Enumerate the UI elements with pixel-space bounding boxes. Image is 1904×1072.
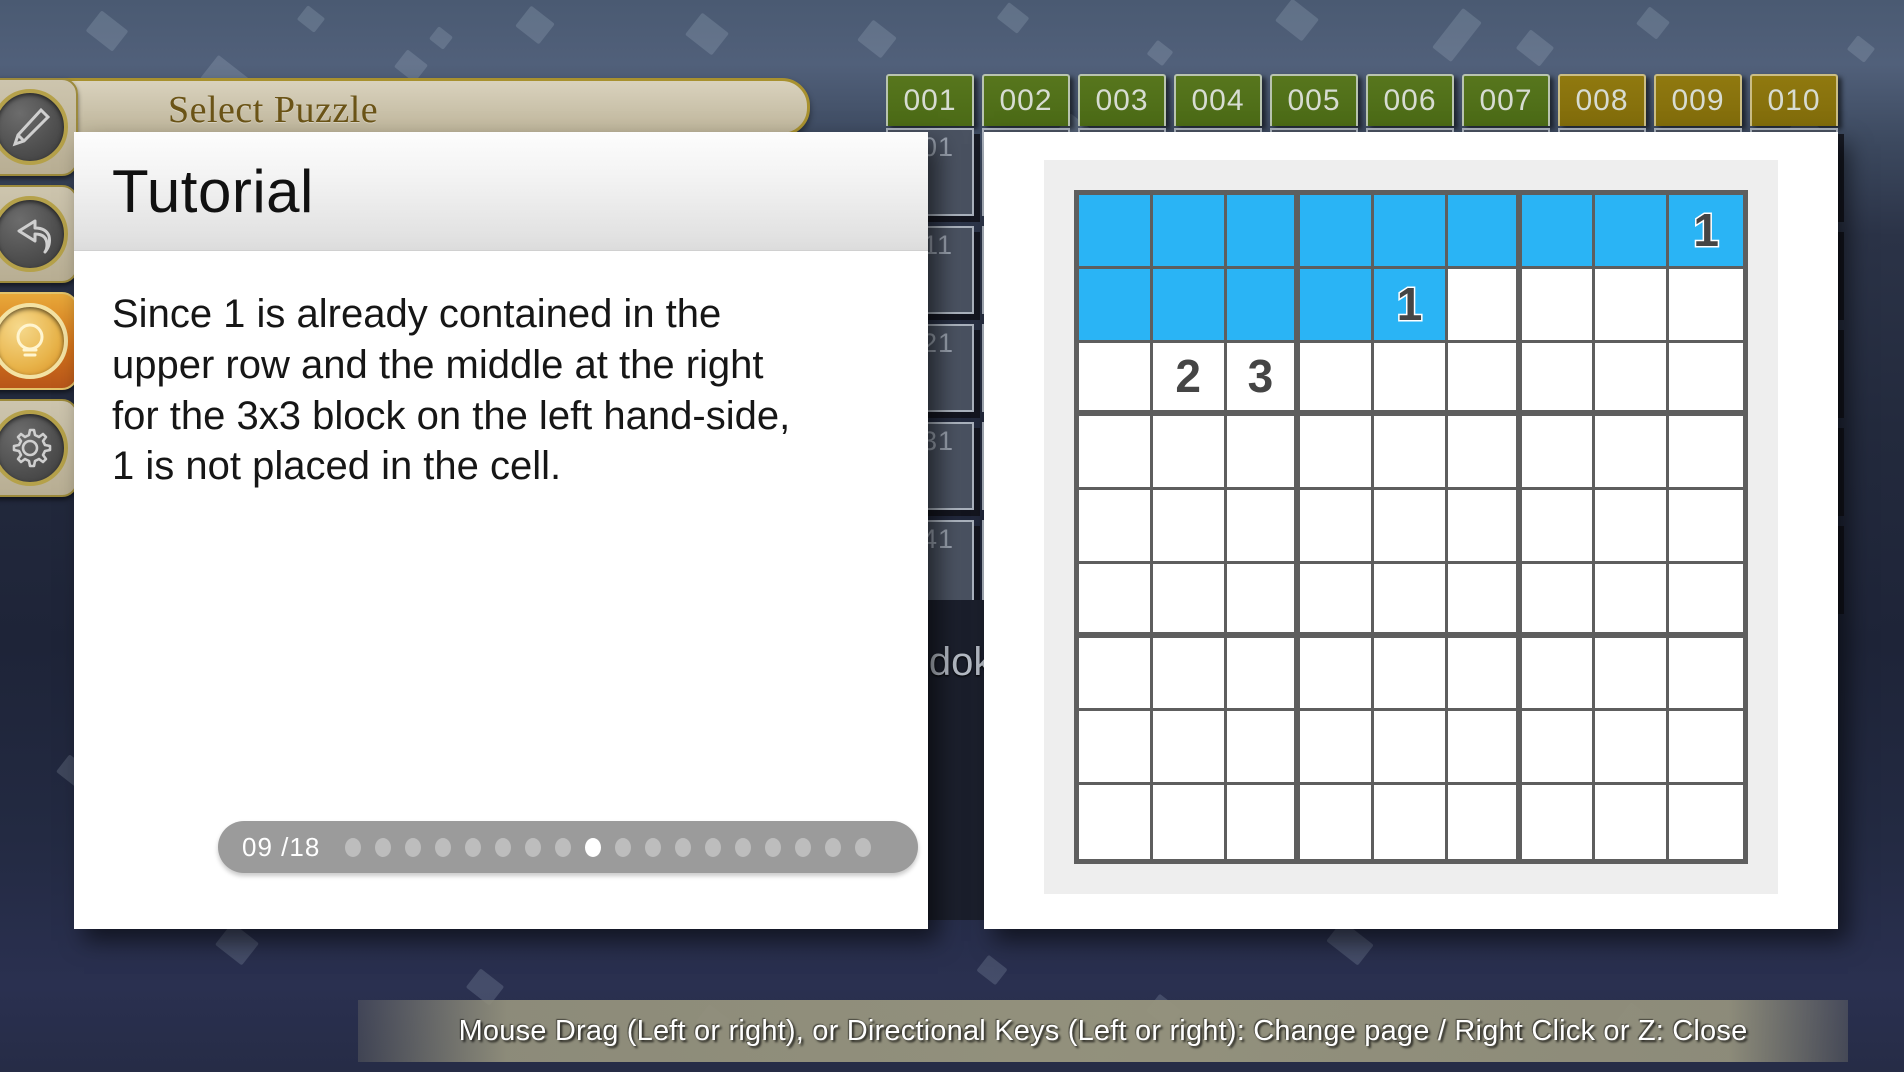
sudoku-cell-r5c4[interactable] — [1300, 490, 1374, 564]
controls-hint-text: Mouse Drag (Left or right), or Direction… — [459, 1015, 1748, 1048]
pencil-icon — [0, 89, 68, 165]
sudoku-cell-r1c1[interactable] — [1079, 195, 1153, 269]
sudoku-cell-r9c1[interactable] — [1079, 785, 1153, 859]
pager-dots[interactable] — [338, 838, 918, 857]
sudoku-cell-r7c4[interactable] — [1300, 638, 1374, 712]
sudoku-cell-r9c7[interactable] — [1522, 785, 1596, 859]
sudoku-cell-r8c7[interactable] — [1522, 711, 1596, 785]
puzzle-tab-bar[interactable]: 001002003004005006007008009010 — [886, 74, 1838, 126]
pager-dot-17[interactable] — [825, 838, 841, 857]
sudoku-cell-r5c1[interactable] — [1079, 490, 1153, 564]
pager-dot-5[interactable] — [465, 838, 481, 857]
sudoku-grid[interactable]: 1123 — [1074, 190, 1748, 864]
gear-icon — [0, 410, 68, 486]
sudoku-cell-r4c4[interactable] — [1300, 416, 1374, 490]
sudoku-cell-r5c5[interactable] — [1374, 490, 1448, 564]
sudoku-cell-r2c4[interactable] — [1300, 269, 1374, 343]
tab-004[interactable]: 004 — [1174, 74, 1262, 126]
sudoku-cell-r3c7[interactable] — [1522, 343, 1596, 417]
select-puzzle-header-bar — [0, 78, 810, 136]
pager-dot-11[interactable] — [645, 838, 661, 857]
tutorial-title: Tutorial — [112, 157, 314, 226]
sudoku-cell-r3c8[interactable] — [1595, 343, 1669, 417]
sudoku-cell-r4c3[interactable] — [1227, 416, 1301, 490]
sudoku-cell-r6c7[interactable] — [1522, 564, 1596, 638]
pager-dot-12[interactable] — [675, 838, 691, 857]
lightbulb-icon — [0, 303, 68, 379]
tab-008[interactable]: 008 — [1558, 74, 1646, 126]
sudoku-cell-r5c7[interactable] — [1522, 490, 1596, 564]
sudoku-cell-r2c8[interactable] — [1595, 269, 1669, 343]
tutorial-pager[interactable]: 09 /18 — [218, 821, 918, 873]
sudoku-cell-r5c2[interactable] — [1153, 490, 1227, 564]
sudoku-cell-r7c2[interactable] — [1153, 638, 1227, 712]
sudoku-cell-r2c3[interactable] — [1227, 269, 1301, 343]
sudoku-cell-r7c9[interactable] — [1669, 638, 1743, 712]
pager-dot-18[interactable] — [855, 838, 871, 857]
tab-002[interactable]: 002 — [982, 74, 1070, 126]
sudoku-cell-r3c9[interactable] — [1669, 343, 1743, 417]
pager-dot-4[interactable] — [435, 838, 451, 857]
sudoku-cell-r4c8[interactable] — [1595, 416, 1669, 490]
sudoku-cell-r4c1[interactable] — [1079, 416, 1153, 490]
game-screen: Select Puzzle — [0, 0, 1904, 1072]
tutorial-header: Tutorial — [74, 132, 928, 251]
pencil-tool-button[interactable] — [0, 78, 78, 176]
sudoku-cell-r3c4[interactable] — [1300, 343, 1374, 417]
tutorial-grid-panel: 1123 — [984, 132, 1838, 929]
sudoku-cell-r2c6[interactable] — [1448, 269, 1522, 343]
sudoku-cell-r5c8[interactable] — [1595, 490, 1669, 564]
sudoku-cell-r1c5[interactable] — [1374, 195, 1448, 269]
pager-dot-13[interactable] — [705, 838, 721, 857]
sudoku-cell-r2c2[interactable] — [1153, 269, 1227, 343]
sudoku-cell-r3c6[interactable] — [1448, 343, 1522, 417]
sudoku-cell-r1c4[interactable] — [1300, 195, 1374, 269]
pager-dot-2[interactable] — [375, 838, 391, 857]
sudoku-cell-r7c3[interactable] — [1227, 638, 1301, 712]
sudoku-cell-r4c2[interactable] — [1153, 416, 1227, 490]
sudoku-cell-r1c3[interactable] — [1227, 195, 1301, 269]
sudoku-cell-r4c7[interactable] — [1522, 416, 1596, 490]
sudoku-cell-r6c8[interactable] — [1595, 564, 1669, 638]
pager-dot-1[interactable] — [345, 838, 361, 857]
pager-dot-14[interactable] — [735, 838, 751, 857]
sudoku-cell-r4c9[interactable] — [1669, 416, 1743, 490]
sudoku-cell-r3c2[interactable]: 2 — [1153, 343, 1227, 417]
sudoku-cell-r1c8[interactable] — [1595, 195, 1669, 269]
sudoku-cell-r8c8[interactable] — [1595, 711, 1669, 785]
tutorial-body: Since 1 is already contained in the uppe… — [74, 251, 928, 492]
sudoku-cell-r1c2[interactable] — [1153, 195, 1227, 269]
sudoku-cell-r2c7[interactable] — [1522, 269, 1596, 343]
sudoku-cell-r1c9[interactable]: 1 — [1669, 195, 1743, 269]
controls-hint-bar: Mouse Drag (Left or right), or Direction… — [358, 1000, 1848, 1062]
page-title: Select Puzzle — [168, 88, 378, 132]
sudoku-cell-r6c6[interactable] — [1448, 564, 1522, 638]
sudoku-cell-r1c6[interactable] — [1448, 195, 1522, 269]
sudoku-cell-r7c5[interactable] — [1374, 638, 1448, 712]
sudoku-cell-r7c8[interactable] — [1595, 638, 1669, 712]
sudoku-cell-r5c6[interactable] — [1448, 490, 1522, 564]
sudoku-cell-r8c9[interactable] — [1669, 711, 1743, 785]
sudoku-cell-r8c1[interactable] — [1079, 711, 1153, 785]
sudoku-cell-r9c2[interactable] — [1153, 785, 1227, 859]
sudoku-cell-r4c5[interactable] — [1374, 416, 1448, 490]
tab-006[interactable]: 006 — [1366, 74, 1454, 126]
undo-tool-button[interactable] — [0, 185, 78, 283]
sudoku-cell-r2c5[interactable]: 1 — [1374, 269, 1448, 343]
tab-009[interactable]: 009 — [1654, 74, 1742, 126]
sudoku-cell-r5c3[interactable] — [1227, 490, 1301, 564]
sudoku-cell-r9c4[interactable] — [1300, 785, 1374, 859]
sudoku-cell-r7c7[interactable] — [1522, 638, 1596, 712]
sudoku-cell-r6c5[interactable] — [1374, 564, 1448, 638]
sudoku-cell-r3c3[interactable]: 3 — [1227, 343, 1301, 417]
pager-dot-10[interactable] — [615, 838, 631, 857]
sudoku-cell-r7c6[interactable] — [1448, 638, 1522, 712]
sudoku-cell-r9c6[interactable] — [1448, 785, 1522, 859]
sudoku-cell-r8c2[interactable] — [1153, 711, 1227, 785]
sudoku-cell-r9c8[interactable] — [1595, 785, 1669, 859]
sudoku-cell-r2c1[interactable] — [1079, 269, 1153, 343]
pager-count-label: 09 /18 — [242, 832, 332, 863]
sudoku-cell-r6c3[interactable] — [1227, 564, 1301, 638]
tutorial-panel: Tutorial Since 1 is already contained in… — [74, 132, 928, 929]
pager-dot-8[interactable] — [555, 838, 571, 857]
sudoku-cell-r3c5[interactable] — [1374, 343, 1448, 417]
sudoku-cell-r4c6[interactable] — [1448, 416, 1522, 490]
sudoku-cell-r6c9[interactable] — [1669, 564, 1743, 638]
settings-tool-button[interactable] — [0, 399, 78, 497]
hint-tool-button[interactable] — [0, 292, 78, 390]
tool-rail — [0, 78, 78, 506]
sudoku-cell-r9c5[interactable] — [1374, 785, 1448, 859]
pager-dot-9[interactable] — [585, 838, 601, 857]
sudoku-cell-r7c1[interactable] — [1079, 638, 1153, 712]
grid-inner-frame: 1123 — [1044, 160, 1778, 894]
sudoku-cell-r8c6[interactable] — [1448, 711, 1522, 785]
sudoku-cell-r2c9[interactable] — [1669, 269, 1743, 343]
tab-001[interactable]: 001 — [886, 74, 974, 126]
sudoku-cell-r6c4[interactable] — [1300, 564, 1374, 638]
tutorial-text: Since 1 is already contained in the uppe… — [112, 289, 888, 492]
pager-dot-7[interactable] — [525, 838, 541, 857]
sudoku-cell-r9c3[interactable] — [1227, 785, 1301, 859]
tab-007[interactable]: 007 — [1462, 74, 1550, 126]
pager-dot-6[interactable] — [495, 838, 511, 857]
sudoku-cell-r1c7[interactable] — [1522, 195, 1596, 269]
undo-arrow-icon — [0, 196, 68, 272]
sudoku-cell-r8c3[interactable] — [1227, 711, 1301, 785]
tab-005[interactable]: 005 — [1270, 74, 1358, 126]
sudoku-cell-r3c1[interactable] — [1079, 343, 1153, 417]
sudoku-cell-r8c5[interactable] — [1374, 711, 1448, 785]
sudoku-cell-r8c4[interactable] — [1300, 711, 1374, 785]
tab-003[interactable]: 003 — [1078, 74, 1166, 126]
tab-010[interactable]: 010 — [1750, 74, 1838, 126]
pager-dot-16[interactable] — [795, 838, 811, 857]
pager-dot-3[interactable] — [405, 838, 421, 857]
sudoku-cell-r6c1[interactable] — [1079, 564, 1153, 638]
sudoku-cell-r5c9[interactable] — [1669, 490, 1743, 564]
sudoku-cell-r9c9[interactable] — [1669, 785, 1743, 859]
pager-dot-15[interactable] — [765, 838, 781, 857]
sudoku-cell-r6c2[interactable] — [1153, 564, 1227, 638]
